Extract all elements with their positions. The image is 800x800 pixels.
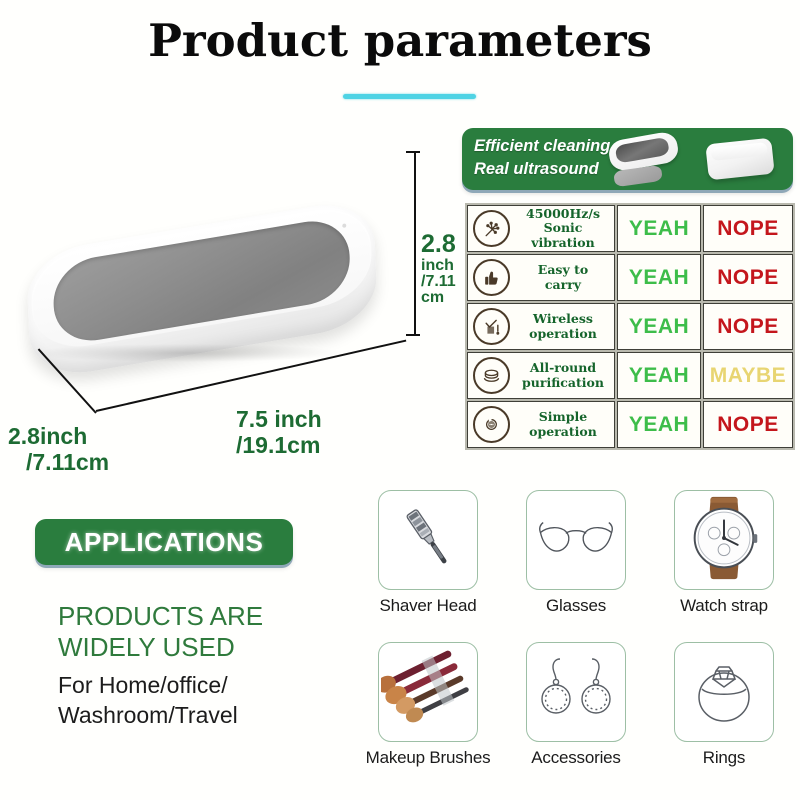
application-card: [378, 490, 478, 590]
application-label: Accessories: [506, 748, 646, 768]
application-label: Glasses: [506, 596, 646, 616]
banner-line-2: Real ultrasound: [474, 158, 610, 181]
application-item: Accessories: [506, 642, 646, 768]
height-metric: /7.11: [421, 274, 469, 290]
applications-heading-line-1: PRODUCTS ARE: [58, 601, 338, 632]
applications-grid: Shaver Head Glasses: [358, 490, 798, 800]
application-label: Makeup Brushes: [358, 748, 498, 768]
feature-label-line-1: All-round: [530, 360, 596, 375]
accessories-earrings-icon: [536, 647, 616, 738]
efficient-cleaning-banner: Efficient cleaning Real ultrasound: [462, 128, 793, 190]
application-card: [674, 490, 774, 590]
feature-cell: All-round purification: [467, 352, 615, 399]
comparison-table: 45000Hz/s Sonic vibration YEAH NOPE: [465, 203, 795, 450]
width-value: 2.8inch: [8, 423, 87, 449]
feature-label-line-2: operation: [529, 424, 597, 439]
page-title: Product parameters: [0, 14, 800, 67]
theirs-verdict: NOPE: [703, 303, 793, 350]
purification-bowl-icon: [473, 357, 510, 394]
length-dimension-label: 7.5 inch /19.1cm: [236, 408, 416, 458]
feature-label: Simple operation: [514, 410, 614, 439]
watch-strap-icon: [682, 493, 766, 588]
height-dimension-line: [414, 152, 416, 336]
feature-cell: Easy to carry: [467, 254, 615, 301]
feature-label: Easy to carry: [514, 263, 614, 292]
device-lid: [52, 215, 351, 347]
application-label: Watch strap: [654, 596, 794, 616]
application-item: Makeup Brushes: [358, 642, 498, 768]
banner-closed-device-image: [705, 138, 774, 181]
feature-cell: 45000Hz/s Sonic vibration: [467, 205, 615, 252]
application-card: [378, 642, 478, 742]
feature-label-line-1: 45000Hz/s: [526, 206, 600, 221]
theirs-verdict: NOPE: [703, 205, 793, 252]
height-value: 2.8: [421, 230, 456, 258]
theirs-verdict: NOPE: [703, 254, 793, 301]
theirs-verdict: MAYBE: [703, 352, 793, 399]
makeup-brushes-icon: [381, 643, 475, 742]
application-card: [674, 642, 774, 742]
applications-subtext-line-1: For Home/office/: [58, 671, 348, 701]
application-label: Shaver Head: [358, 596, 498, 616]
feature-label-line-1: Simple: [539, 409, 587, 424]
width-dimension-label: 2.8inch /7.11cm: [8, 425, 168, 475]
feature-cell: Wireless operation: [467, 303, 615, 350]
comparison-table-body: 45000Hz/s Sonic vibration YEAH NOPE: [467, 205, 793, 448]
wireless-check-icon: [473, 308, 510, 345]
application-card: [526, 490, 626, 590]
device-illustration: [25, 174, 380, 403]
ours-verdict: YEAH: [617, 254, 701, 301]
feature-label-line-2: operation: [529, 326, 597, 341]
sonic-vibration-icon: [473, 210, 510, 247]
banner-line-1: Efficient cleaning: [474, 135, 610, 158]
thumbs-up-icon: [473, 259, 510, 296]
application-item: Shaver Head: [358, 490, 498, 616]
simple-operation-icon: [473, 406, 510, 443]
applications-subtext-line-2: Washroom/Travel: [58, 701, 348, 731]
device-rim: [30, 201, 374, 354]
theirs-verdict: NOPE: [703, 401, 793, 448]
ours-verdict: YEAH: [617, 303, 701, 350]
product-parameters-infographic: Product parameters 2.8 inch /7.11 cm 2.8…: [0, 0, 800, 800]
ours-verdict: YEAH: [617, 401, 701, 448]
feature-cell: Simple operation: [467, 401, 615, 448]
feature-label-line-2: purification: [522, 375, 604, 390]
ours-verdict: YEAH: [617, 205, 701, 252]
applications-subtext: For Home/office/ Washroom/Travel: [58, 671, 348, 731]
application-item: Rings: [654, 642, 794, 768]
feature-label-line-2: carry: [545, 277, 581, 292]
applications-badge-label: APPLICATIONS: [65, 527, 264, 558]
feature-label-line-2: Sonic vibration: [531, 220, 594, 249]
device-shadow: [32, 344, 342, 362]
application-label: Rings: [654, 748, 794, 768]
applications-heading: PRODUCTS ARE WIDELY USED: [58, 601, 338, 662]
table-row: Easy to carry YEAH NOPE: [467, 254, 793, 301]
feature-label: 45000Hz/s Sonic vibration: [514, 207, 614, 250]
height-dimension-tick-top: [406, 151, 420, 153]
table-row: Simple operation YEAH NOPE: [467, 401, 793, 448]
ours-verdict: YEAH: [617, 352, 701, 399]
application-card: [526, 642, 626, 742]
table-row: 45000Hz/s Sonic vibration YEAH NOPE: [467, 205, 793, 252]
table-row: Wireless operation YEAH NOPE: [467, 303, 793, 350]
feature-label: All-round purification: [514, 361, 614, 390]
feature-label-line-1: Easy to: [538, 262, 588, 277]
height-metric-unit: cm: [421, 290, 469, 306]
device-led-indicator: [342, 223, 346, 228]
ring-icon: [683, 649, 765, 736]
length-value: 7.5 inch: [236, 406, 322, 432]
banner-text: Efficient cleaning Real ultrasound: [474, 135, 610, 182]
height-dimension-tick-bottom: [406, 334, 420, 336]
title-underline-bar: [343, 94, 476, 99]
height-unit: inch: [421, 258, 469, 274]
application-item: Watch strap: [654, 490, 794, 616]
width-metric: /7.11cm: [26, 451, 168, 474]
glasses-icon: [535, 497, 617, 584]
application-item: Glasses: [506, 490, 646, 616]
shaver-head-icon: [390, 500, 466, 581]
feature-label-line-1: Wireless: [533, 311, 593, 326]
applications-heading-line-2: WIDELY USED: [58, 632, 338, 663]
height-dimension-label: 2.8 inch /7.11 cm: [421, 232, 469, 306]
length-metric: /19.1cm: [236, 434, 416, 457]
applications-badge: APPLICATIONS: [35, 519, 293, 565]
table-row: All-round purification YEAH MAYBE: [467, 352, 793, 399]
feature-label: Wireless operation: [514, 312, 614, 341]
